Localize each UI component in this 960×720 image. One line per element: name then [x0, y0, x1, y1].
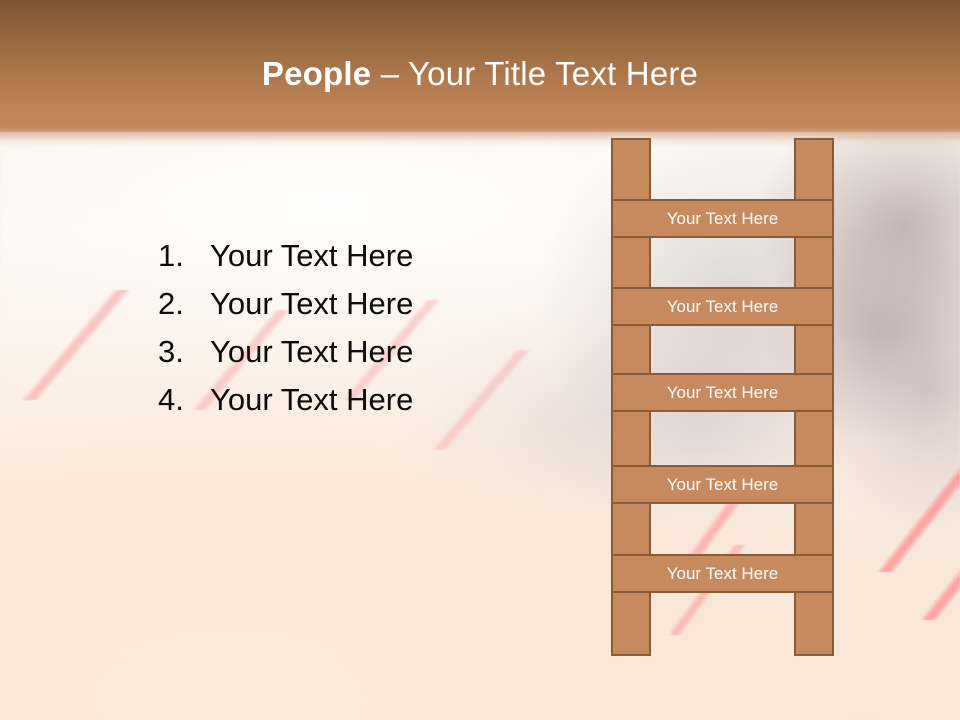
- ladder-rung[interactable]: Your Text Here: [611, 199, 834, 238]
- ladder-rung[interactable]: Your Text Here: [611, 373, 834, 412]
- ladder-rung[interactable]: Your Text Here: [611, 465, 834, 504]
- slide: People – Your Title Text Here 1. Your Te…: [0, 0, 960, 720]
- page-title: People – Your Title Text Here: [0, 52, 960, 96]
- list-item-number: 1.: [158, 232, 210, 280]
- list-item[interactable]: 1. Your Text Here: [158, 232, 498, 280]
- list-item[interactable]: 3. Your Text Here: [158, 328, 498, 376]
- ladder-rung[interactable]: Your Text Here: [611, 287, 834, 326]
- ladder-diagram: Your Text Here Your Text Here Your Text …: [611, 138, 834, 656]
- list-item-number: 4.: [158, 376, 210, 424]
- list-item-label: Your Text Here: [210, 376, 413, 424]
- numbered-list: 1. Your Text Here 2. Your Text Here 3. Y…: [158, 232, 498, 424]
- list-item-label: Your Text Here: [210, 328, 413, 376]
- page-title-remainder: – Your Title Text Here: [371, 55, 698, 92]
- list-item[interactable]: 4. Your Text Here: [158, 376, 498, 424]
- list-item-label: Your Text Here: [210, 280, 413, 328]
- list-item[interactable]: 2. Your Text Here: [158, 280, 498, 328]
- list-item-number: 3.: [158, 328, 210, 376]
- page-title-emphasis: People: [262, 55, 371, 92]
- list-item-number: 2.: [158, 280, 210, 328]
- ladder-rung[interactable]: Your Text Here: [611, 554, 834, 593]
- list-item-label: Your Text Here: [210, 232, 413, 280]
